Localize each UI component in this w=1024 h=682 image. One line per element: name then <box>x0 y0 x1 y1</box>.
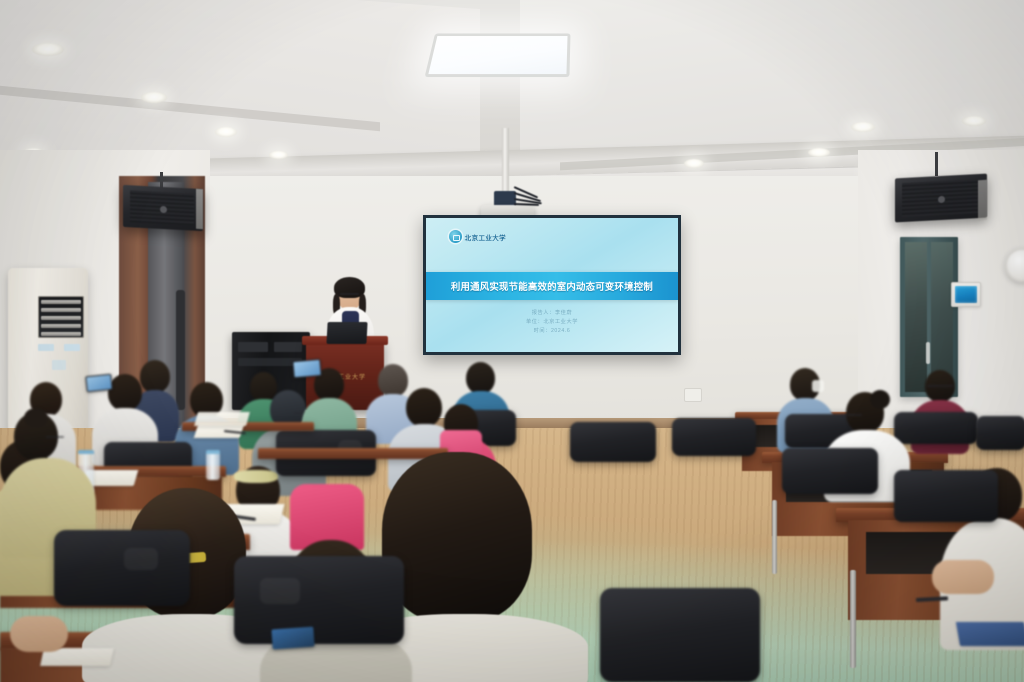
desk-leg-2 <box>850 570 856 668</box>
notebook-4 <box>194 412 250 426</box>
downlight-2 <box>141 92 167 103</box>
chair-mid-3 <box>570 422 656 462</box>
wall-control-panel[interactable] <box>951 282 981 307</box>
chair-mid-5 <box>782 448 878 494</box>
bottle-cap <box>206 450 220 454</box>
glasses <box>46 436 64 438</box>
chair-mid-6 <box>894 470 998 522</box>
door-handle[interactable] <box>926 342 930 364</box>
hand-right-attendee <box>932 560 994 594</box>
downlight-9 <box>851 122 875 132</box>
wall-panel-screen <box>955 286 977 303</box>
slide-title-band: 利用通风实现节能高效的室内动态可变环境控制 <box>426 272 678 300</box>
downlight-3 <box>215 127 237 137</box>
folder-right <box>956 622 1024 646</box>
presentation-slide: 北京工业大学 利用通风实现节能高效的室内动态可变环境控制 报告人：李佳蔚 单位：… <box>426 218 678 352</box>
slide-logo: 北京工业大学 <box>449 230 506 243</box>
rack-panel-1 <box>238 342 268 352</box>
slide-subtitle-block: 报告人：李佳蔚 单位：北京工业大学 时间：2024.6 <box>426 309 678 336</box>
speaker-left-side <box>196 189 203 229</box>
phone-on-desk[interactable] <box>271 627 314 650</box>
head <box>378 364 408 397</box>
speaker-right-rod <box>935 152 938 176</box>
slide-logo-text: 北京工业大学 <box>465 232 506 242</box>
hair-bun <box>870 390 890 409</box>
chair-front-1 <box>234 556 404 644</box>
ac-badge-left <box>38 344 54 351</box>
chair-mid-4 <box>672 418 756 456</box>
head <box>382 452 532 622</box>
phone-recording-1[interactable] <box>85 374 113 393</box>
downlight-7 <box>684 159 704 168</box>
downlight-1 <box>32 43 64 56</box>
slide-title: 利用通风实现节能高效的室内动态可变环境控制 <box>451 279 653 293</box>
bottle-cap <box>78 450 94 454</box>
downlight-4 <box>269 151 288 159</box>
water-bottle-2 <box>206 450 220 480</box>
university-emblem-icon <box>449 230 462 243</box>
left-column-handle <box>176 290 185 410</box>
head <box>406 388 442 427</box>
slide-subtitle-line-3: 时间：2024.6 <box>426 327 678 336</box>
headband <box>234 470 278 483</box>
downlight-15 <box>962 116 986 126</box>
ac-vent <box>38 296 84 338</box>
door-glass-left <box>905 242 927 392</box>
wall-speaker-left <box>123 185 203 231</box>
chair-front-2 <box>54 530 190 606</box>
chair-back-3 <box>894 412 978 444</box>
slide-subtitle-line-2: 单位：北京工业大学 <box>426 318 678 327</box>
presenter-glasses <box>340 293 359 295</box>
desk-leg-1 <box>772 500 777 574</box>
head <box>108 374 142 411</box>
slide-subtitle-line-1: 报告人：李佳蔚 <box>426 309 678 318</box>
glasses <box>927 385 954 387</box>
speaker-right-side <box>978 180 987 221</box>
desk-center-mid-top <box>258 448 448 459</box>
chair-back-4 <box>976 416 1024 450</box>
wall-outlet <box>684 388 702 402</box>
glasses <box>844 414 862 416</box>
presenter-laptop <box>326 322 367 344</box>
face-mask <box>812 380 824 392</box>
chair-front-3 <box>600 588 760 682</box>
lecture-hall-photo: 北京工业大学 利用通风实现节能高效的室内动态可变环境控制 报告人：李佳蔚 单位：… <box>0 0 1024 682</box>
wall-speaker-right <box>895 174 987 223</box>
head <box>140 360 170 393</box>
phone-recording-2[interactable] <box>292 359 321 378</box>
hand-foreground-left <box>10 616 68 652</box>
ac-display <box>52 360 66 370</box>
rack-panel-2 <box>274 342 302 352</box>
downlight-8 <box>808 148 830 157</box>
ceiling-panel-light <box>425 33 571 77</box>
hair-clip <box>24 408 48 428</box>
head <box>466 362 495 394</box>
ac-badge-right <box>64 344 80 351</box>
projection-screen: 北京工业大学 利用通风实现节能高效的室内动态可变环境控制 报告人：李佳蔚 单位：… <box>423 215 681 355</box>
projector-pole <box>502 128 509 195</box>
speaker-left-rod <box>160 172 163 188</box>
